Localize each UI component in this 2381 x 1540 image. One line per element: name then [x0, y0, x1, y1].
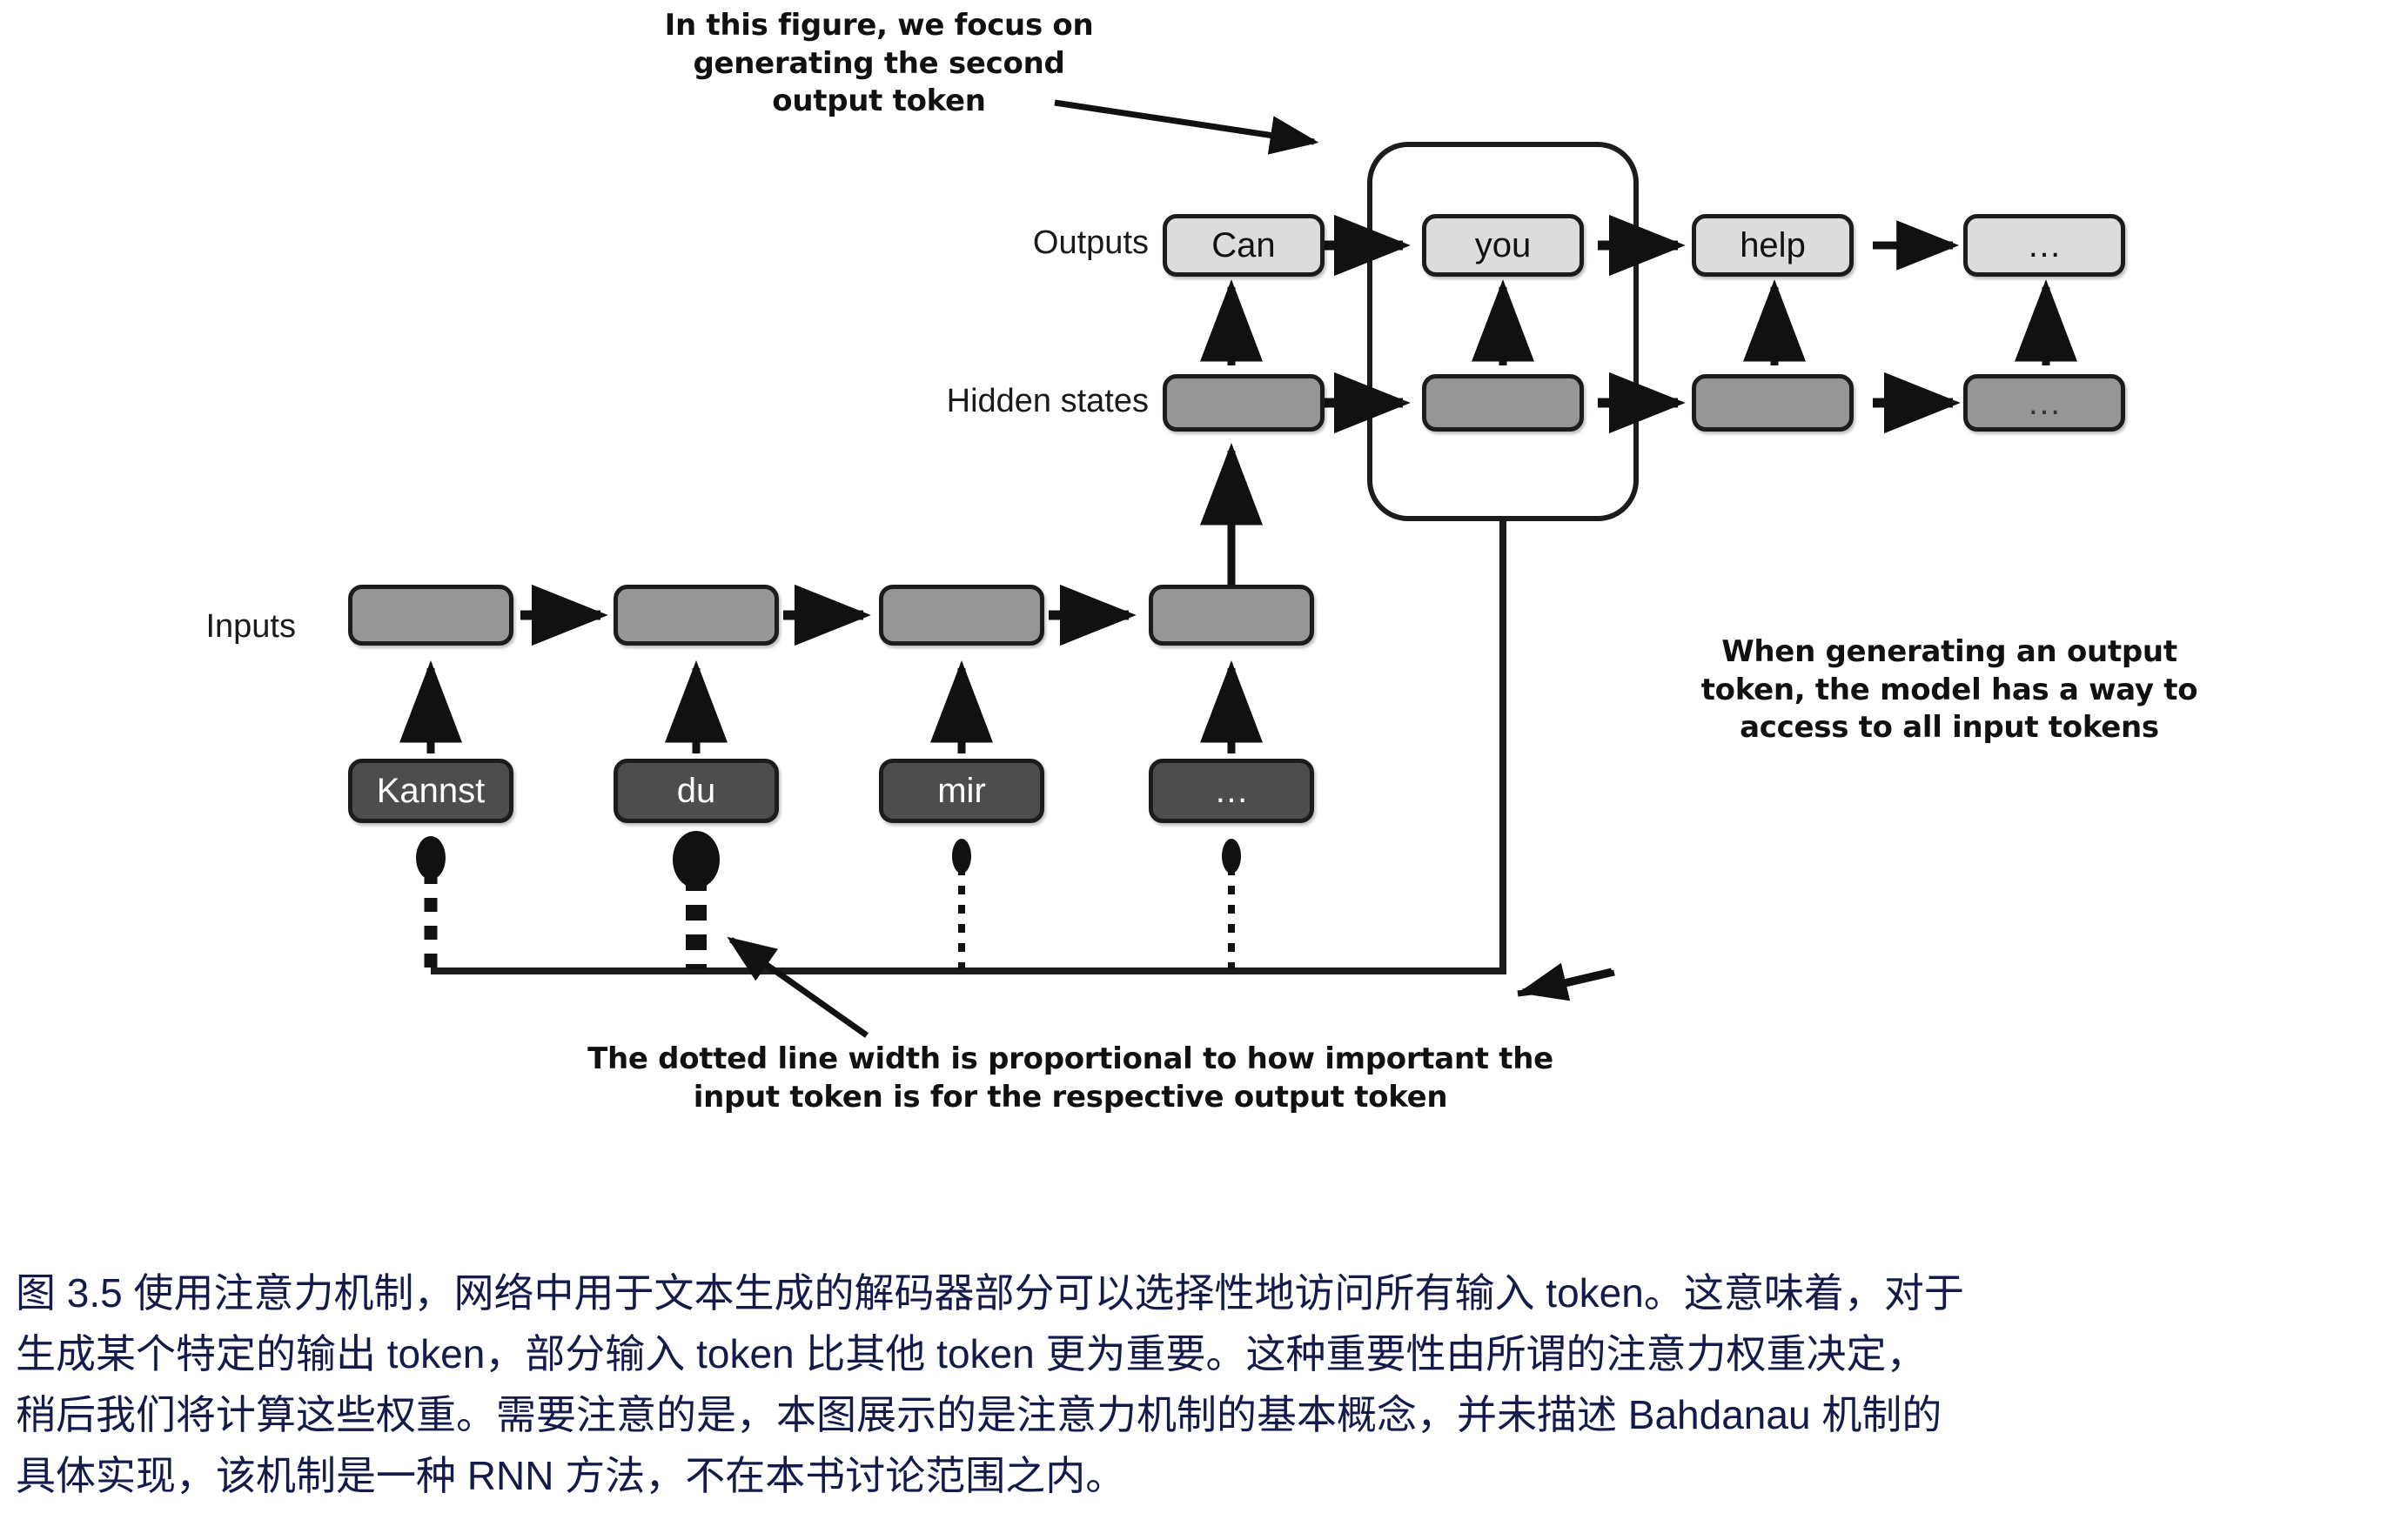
- encoder-state-box[interactable]: [1149, 585, 1314, 646]
- caption-line: 图 3.5 使用注意力机制，网络中用于文本生成的解码器部分可以选择性地访问所有输…: [16, 1263, 2365, 1324]
- row-label-outputs: Outputs: [783, 224, 1149, 262]
- caption-line: 具体实现，该机制是一种 RNN 方法，不在本书讨论范围之内。: [16, 1446, 2365, 1507]
- hidden-state-box[interactable]: [1692, 374, 1854, 432]
- encoder-state-box[interactable]: [348, 585, 513, 646]
- output-token-box[interactable]: …: [1963, 214, 2125, 277]
- output-token-box[interactable]: Can: [1163, 214, 1325, 277]
- input-token-box[interactable]: du: [614, 759, 779, 823]
- encoder-state-box[interactable]: [614, 585, 779, 646]
- input-token-box[interactable]: Kannst: [348, 759, 513, 823]
- figure-caption: 图 3.5 使用注意力机制，网络中用于文本生成的解码器部分可以选择性地访问所有输…: [16, 1263, 2365, 1507]
- annotation-focus-text: In this figure, we focus on generating t…: [600, 7, 1157, 121]
- input-token-box[interactable]: mir: [879, 759, 1044, 823]
- caption-line: 生成某个特定的输出 token，部分输入 token 比其他 token 更为重…: [16, 1324, 2365, 1385]
- caption-line: 稍后我们将计算这些权重。需要注意的是，本图展示的是注意力机制的基本概念，并未描述…: [16, 1385, 2365, 1446]
- figure-attention-mechanism: In this figure, we focus on generating t…: [0, 0, 2381, 1253]
- input-token-box[interactable]: …: [1149, 759, 1314, 823]
- hidden-state-box[interactable]: [1163, 374, 1325, 432]
- output-token-box[interactable]: help: [1692, 214, 1854, 277]
- hidden-state-box[interactable]: [1422, 374, 1584, 432]
- hidden-state-box[interactable]: …: [1963, 374, 2125, 432]
- annotation-dotted-arrow: [731, 940, 867, 1035]
- annotation-dotted-text: The dotted line width is proportional to…: [418, 1041, 1723, 1116]
- annotation-access-arrow: [1523, 971, 1612, 992]
- encoder-state-box[interactable]: [879, 585, 1044, 646]
- output-token-box[interactable]: you: [1422, 214, 1584, 277]
- row-label-inputs: Inputs: [78, 608, 296, 646]
- annotation-access-text: When generating an output token, the mod…: [1636, 633, 2263, 747]
- row-label-hidden-states: Hidden states: [644, 383, 1149, 420]
